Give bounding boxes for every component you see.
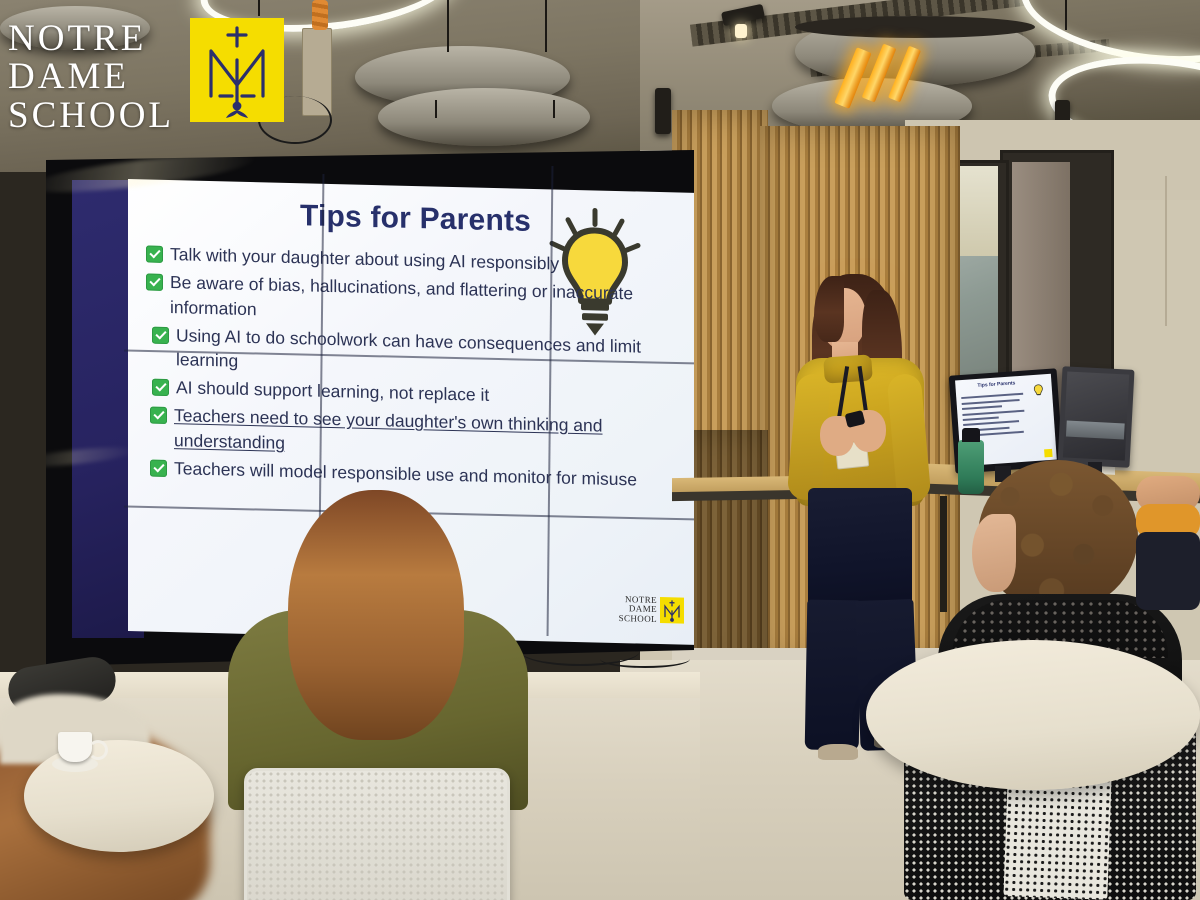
attendee-far-right xyxy=(1136,476,1200,616)
slide-bullet-text: Be aware of bias, hallucinations, and fl… xyxy=(170,270,676,332)
mini-lightbulb-icon xyxy=(1032,382,1044,398)
wall-cord xyxy=(1165,176,1167,326)
window-glass-bright xyxy=(960,166,998,256)
logo-line-3: SCHOOL xyxy=(8,97,174,135)
checkbox-icon xyxy=(146,273,163,290)
presenter-leg-left xyxy=(805,600,862,751)
round-table-right xyxy=(866,640,1200,790)
second-monitor-screen xyxy=(1063,371,1129,460)
slide-logo-line3: SCHOOL xyxy=(619,614,657,624)
attendee-face-profile xyxy=(972,514,1016,592)
presenter-hair-front xyxy=(814,276,844,342)
presenter-trousers xyxy=(808,488,912,618)
attendee-leg xyxy=(1136,532,1200,610)
pendant-wire xyxy=(553,100,555,118)
water-bottle-cap xyxy=(962,428,980,442)
slide-bullet: Teachers need to see your daughter's own… xyxy=(146,403,676,466)
pendant-wire xyxy=(258,0,260,16)
logo-line-2: DAME xyxy=(8,58,174,96)
slide-bullet-list: Talk with your daughter about using AI r… xyxy=(146,241,676,496)
spotlight-fixture xyxy=(655,88,671,134)
second-monitor-reflection xyxy=(1066,420,1125,439)
checkbox-icon xyxy=(150,459,167,476)
slide-bullet-text: Teachers need to see your daughter's own… xyxy=(174,403,676,465)
spotlight-fixture xyxy=(735,24,747,38)
slide-bullet: Be aware of bias, hallucinations, and fl… xyxy=(146,269,676,332)
slide-logo-mark xyxy=(660,597,684,624)
chair[interactable] xyxy=(244,768,510,900)
slide-title: Tips for Parents xyxy=(300,199,531,239)
presentation-room-photo: te Tips for Parents xyxy=(0,0,1200,900)
cup-handle xyxy=(88,740,108,760)
brand-logo-mark xyxy=(190,18,284,122)
slide-footer-logo-text: NOTRE DAME SCHOOL xyxy=(619,595,657,624)
checkbox-icon xyxy=(146,245,163,262)
checkbox-icon xyxy=(150,407,167,424)
acoustic-disc xyxy=(378,88,590,146)
brand-logo-text: NOTRE DAME SCHOOL xyxy=(0,18,184,135)
pendant-wire xyxy=(435,100,437,118)
slide-bullet-text: AI should support learning, not replace … xyxy=(176,375,489,407)
checkbox-icon xyxy=(152,326,169,343)
pendant-wire xyxy=(447,0,449,52)
pendant-wire xyxy=(545,0,547,52)
slide-footer-logo: NOTRE DAME SCHOOL xyxy=(619,595,684,625)
floor-cable xyxy=(600,650,690,668)
coffee-cup xyxy=(58,732,92,762)
monogram-crest-icon xyxy=(190,18,284,122)
round-table-left xyxy=(24,740,214,852)
brand-logo-overlay: NOTRE DAME SCHOOL xyxy=(0,18,284,135)
presenter-shoe xyxy=(818,744,858,760)
mini-slide-title: Tips for Parents xyxy=(977,380,1015,389)
pendant-wire xyxy=(1065,0,1067,30)
orange-cable xyxy=(312,0,328,30)
logo-line-1: NOTRE xyxy=(8,20,174,58)
acoustic-disc-rim xyxy=(795,16,1035,38)
attendee-khaki-top xyxy=(214,490,544,900)
attendee-hair xyxy=(288,490,464,740)
checkbox-icon xyxy=(152,379,169,396)
